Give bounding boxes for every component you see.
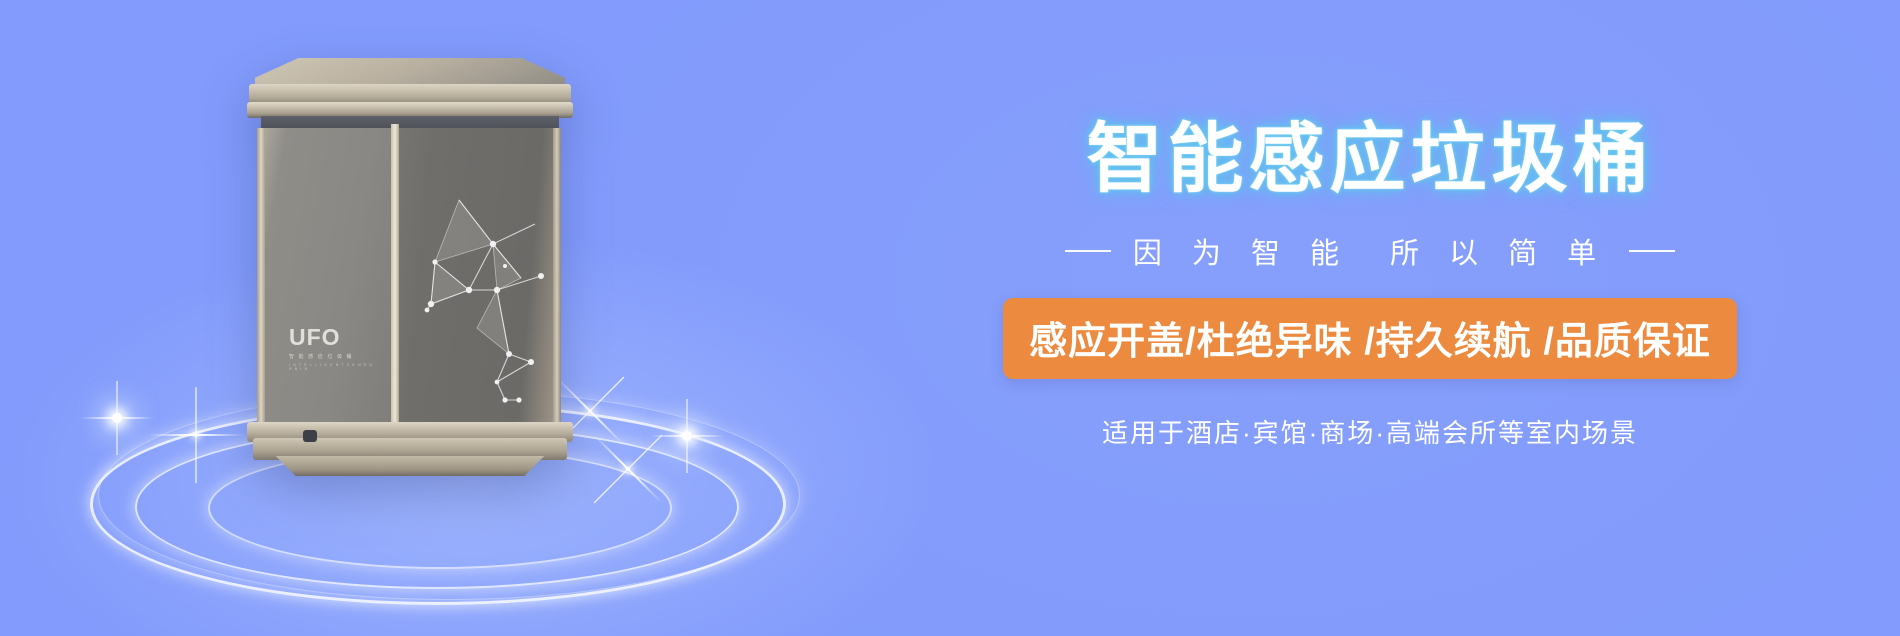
bin-sensor-port <box>303 430 317 442</box>
brand-logo-text: UFO <box>289 326 377 349</box>
banner-tagline: 适用于酒店·宾馆·商场·高端会所等室内场景 <box>880 413 1860 450</box>
features-pill: 感应开盖/杜绝异味 /持久续航 /品质保证 <box>1003 298 1737 379</box>
bin-edge-center <box>391 124 399 430</box>
sparkle-glow-left <box>112 413 122 423</box>
rule-right-icon <box>1629 250 1675 252</box>
polygon-network-graphic <box>401 186 553 418</box>
banner-subtitle: 因 为 智 能 所 以 简 单 <box>1133 230 1607 272</box>
banner-subtitle-row: 因 为 智 能 所 以 简 单 <box>880 230 1860 272</box>
bin-edge-left <box>257 128 265 428</box>
sparkle-star-right-top <box>588 409 592 413</box>
smart-trash-bin: UFO 智 能 感 应 垃 圾 桶 I N T E L L I G E N T … <box>245 58 575 488</box>
bin-body-left-face <box>261 128 397 428</box>
product-image: UFO 智 能 感 应 垃 圾 桶 I N T E L L I G E N T … <box>70 30 830 610</box>
sparkle-glow-right <box>682 431 692 441</box>
bin-base-tier-3 <box>267 456 553 476</box>
brand-logo: UFO 智 能 感 应 垃 圾 桶 I N T E L L I G E N T … <box>289 326 377 371</box>
product-banner: UFO 智 能 感 应 垃 圾 桶 I N T E L L I G E N T … <box>0 0 1900 636</box>
bin-edge-right <box>553 128 561 428</box>
sparkle-star-left <box>194 433 198 437</box>
brand-logo-subtitle: 智 能 感 应 垃 圾 桶 <box>289 353 377 360</box>
banner-headline: 智能感应垃圾桶 <box>880 120 1860 200</box>
brand-logo-subtitle-en: I N T E L L I G E N T S E N S O R B I N <box>289 363 377 371</box>
sparkle-star-right-bottom <box>626 467 630 471</box>
rule-left-icon <box>1065 250 1111 252</box>
marketing-copy: 智能感应垃圾桶 因 为 智 能 所 以 简 单 感应开盖/杜绝异味 /持久续航 … <box>880 120 1860 450</box>
